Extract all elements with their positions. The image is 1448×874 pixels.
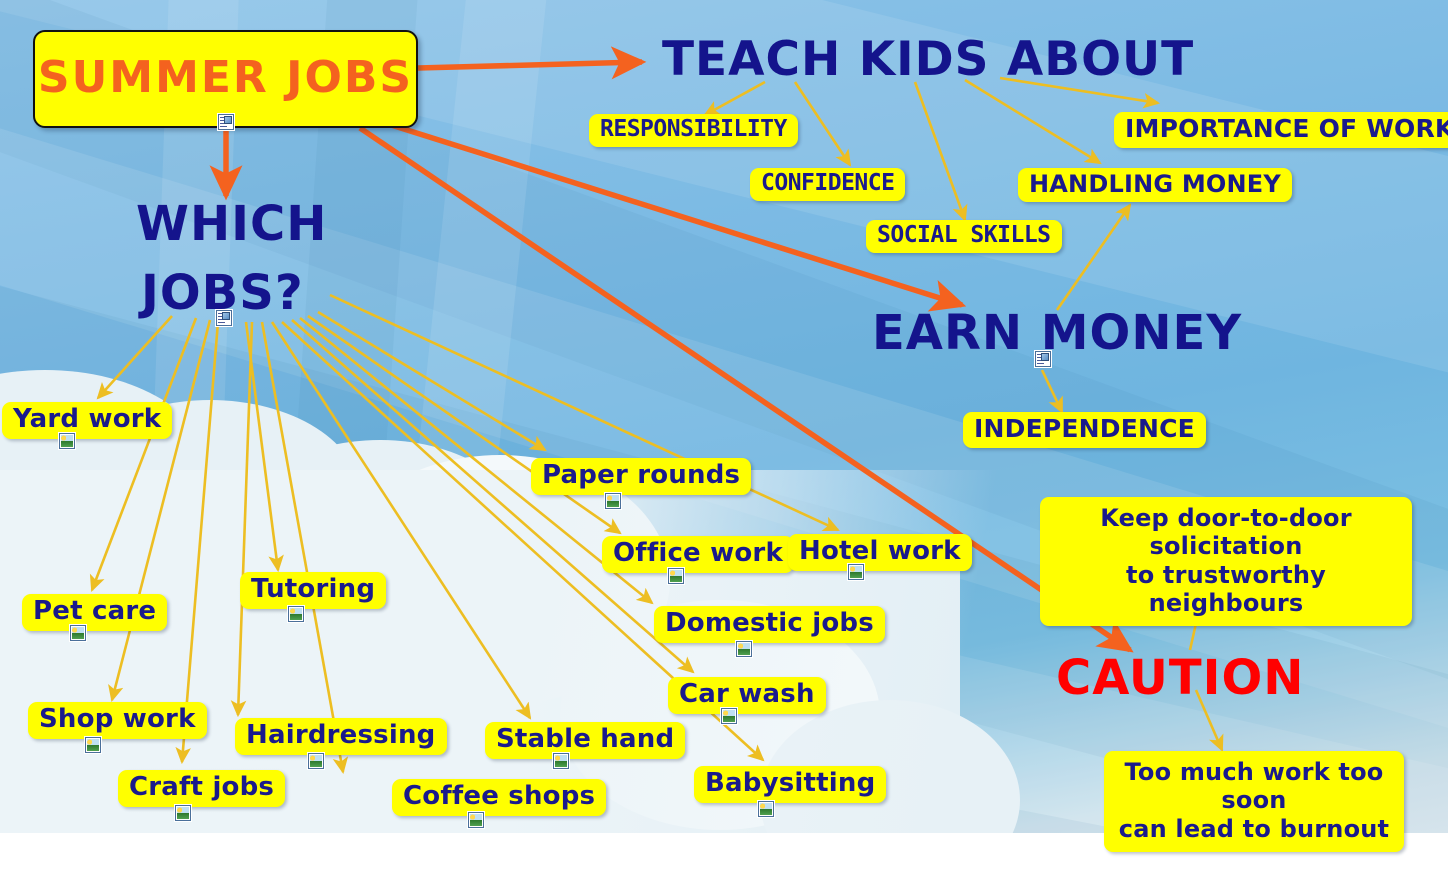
node-tutoring[interactable]: Tutoring — [240, 572, 386, 609]
picture-icon[interactable] — [721, 708, 737, 724]
picture-icon[interactable] — [605, 493, 621, 509]
node-coffee-shops[interactable]: Coffee shops — [392, 779, 606, 816]
picture-icon[interactable] — [736, 641, 752, 657]
node-independence[interactable]: INDEPENDENCE — [963, 412, 1206, 448]
picture-icon[interactable] — [468, 812, 484, 828]
picture-icon[interactable] — [85, 737, 101, 753]
node-social-skills[interactable]: SOCIAL SKILLS — [866, 220, 1062, 253]
node-teach-kids-about[interactable]: TEACH KIDS ABOUT — [662, 32, 1194, 87]
picture-icon[interactable] — [70, 625, 86, 641]
node-importance-of-work[interactable]: IMPORTANCE OF WORK — [1114, 112, 1448, 148]
cloud — [0, 370, 210, 570]
sun-ray — [411, 0, 549, 525]
node-pet-care[interactable]: Pet care — [22, 594, 167, 631]
node-office-work[interactable]: Office work — [602, 536, 794, 573]
note-icon[interactable] — [216, 310, 232, 326]
picture-icon[interactable] — [758, 801, 774, 817]
node-which-jobs-line1[interactable]: WHICH — [136, 196, 327, 252]
solicitation-line1: Keep door-to-door solicitation — [1100, 504, 1352, 560]
node-caution[interactable]: CAUTION — [1056, 650, 1304, 706]
node-handling-money[interactable]: HANDLING MONEY — [1018, 168, 1292, 202]
node-hairdressing[interactable]: Hairdressing — [235, 718, 447, 755]
node-confidence[interactable]: CONFIDENCE — [750, 168, 905, 201]
burnout-line2: can lead to burnout — [1119, 815, 1389, 843]
node-earn-money[interactable]: EARN MONEY — [872, 305, 1242, 361]
picture-icon[interactable] — [59, 433, 75, 449]
node-domestic-jobs[interactable]: Domestic jobs — [654, 606, 885, 643]
note-icon[interactable] — [1035, 351, 1051, 367]
picture-icon[interactable] — [668, 568, 684, 584]
picture-icon[interactable] — [288, 606, 304, 622]
node-solicitation-note[interactable]: Keep door-to-door solicitation to trustw… — [1040, 497, 1412, 626]
node-summer-jobs-label: SUMMER JOBS — [38, 52, 413, 104]
node-shop-work[interactable]: Shop work — [28, 702, 207, 739]
node-babysitting[interactable]: Babysitting — [694, 766, 886, 803]
node-responsibility[interactable]: RESPONSIBILITY — [589, 114, 798, 147]
picture-icon[interactable] — [848, 564, 864, 580]
burnout-line1: Too much work too soon — [1125, 758, 1384, 814]
cloud — [230, 440, 530, 640]
solicitation-line2: to trustworthy neighbours — [1126, 561, 1326, 617]
picture-icon[interactable] — [553, 753, 569, 769]
node-stable-hand[interactable]: Stable hand — [485, 722, 685, 759]
mindmap-canvas: SUMMER JOBS TEACH KIDS ABOUT RESPONSIBIL… — [0, 0, 1448, 874]
node-paper-rounds[interactable]: Paper rounds — [531, 458, 751, 495]
picture-icon[interactable] — [175, 805, 191, 821]
node-yard-work[interactable]: Yard work — [2, 402, 172, 439]
node-craft-jobs[interactable]: Craft jobs — [118, 770, 285, 807]
node-hotel-work[interactable]: Hotel work — [788, 534, 972, 571]
node-burnout-note[interactable]: Too much work too soon can lead to burno… — [1104, 751, 1404, 852]
node-car-wash[interactable]: Car wash — [668, 677, 826, 714]
picture-icon[interactable] — [308, 753, 324, 769]
note-icon[interactable] — [218, 114, 234, 130]
